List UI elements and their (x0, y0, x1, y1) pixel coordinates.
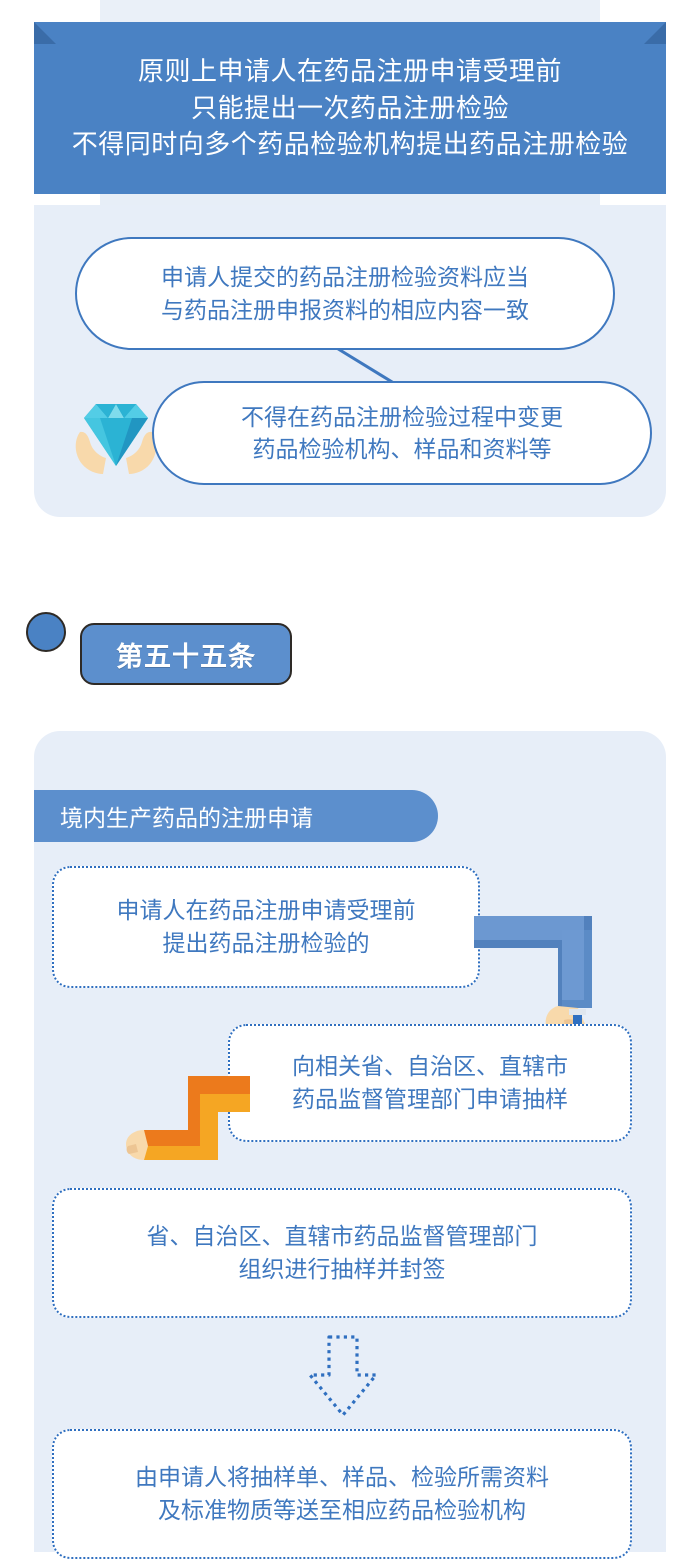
flow-step-4-line-1: 由申请人将抽样单、样品、检验所需资料 (135, 1461, 549, 1494)
rule-bubble-1-line-1: 申请人提交的药品注册检验资料应当 (161, 261, 529, 293)
banner-line-3: 不得同时向多个药品检验机构提出药品注册检验 (72, 126, 629, 163)
section-badge-label: 第五十五条 (116, 635, 256, 674)
rule-bubble-2-line-1: 不得在药品注册检验过程中变更 (241, 401, 563, 433)
banner-sheet-top (100, 0, 600, 24)
flow-step-3-line-2: 组织进行抽样并封签 (239, 1253, 446, 1286)
rule-bubble-1: 申请人提交的药品注册检验资料应当 与药品注册申报资料的相应内容一致 (75, 237, 615, 350)
top-banner: 原则上申请人在药品注册申请受理前 只能提出一次药品注册检验 不得同时向多个药品检… (0, 0, 700, 205)
orange-arm-with-hand-icon (126, 1068, 250, 1190)
badge-bullet-dot (26, 612, 66, 652)
rule-bubble-1-line-2: 与药品注册申报资料的相应内容一致 (161, 294, 529, 326)
section-badge[interactable]: 第五十五条 (80, 623, 292, 685)
banner-line-2: 只能提出一次药品注册检验 (191, 90, 509, 127)
rule-bubble-2: 不得在药品注册检验过程中变更 药品检验机构、样品和资料等 (152, 381, 652, 485)
domestic-application-pill: 境内生产药品的注册申请 (34, 790, 438, 842)
diamond-in-hands-icon (70, 388, 162, 476)
domestic-application-pill-label: 境内生产药品的注册申请 (60, 799, 313, 833)
flow-step-3: 省、自治区、直辖市药品监督管理部门 组织进行抽样并封签 (52, 1188, 632, 1318)
rule-bubble-2-line-2: 药品检验机构、样品和资料等 (253, 433, 552, 465)
flow-step-4-line-2: 及标准物质等送至相应药品检验机构 (158, 1494, 526, 1527)
banner-text-block: 原则上申请人在药品注册申请受理前 只能提出一次药品注册检验 不得同时向多个药品检… (34, 22, 666, 194)
flow-step-1-line-2: 提出药品注册检验的 (163, 927, 370, 960)
banner-line-1: 原则上申请人在药品注册申请受理前 (138, 53, 562, 90)
flow-step-2-line-2: 药品监督管理部门申请抽样 (292, 1083, 568, 1116)
flow-step-1: 申请人在药品注册申请受理前 提出药品注册检验的 (52, 866, 480, 988)
flow-step-2: 向相关省、自治区、直辖市 药品监督管理部门申请抽样 (228, 1024, 632, 1142)
banner-sheet-bottom (100, 192, 600, 206)
flow-step-3-line-1: 省、自治区、直辖市药品监督管理部门 (147, 1220, 538, 1253)
dotted-down-arrow-icon (300, 1333, 386, 1419)
flow-step-2-line-1: 向相关省、自治区、直辖市 (292, 1050, 568, 1083)
flow-step-1-line-1: 申请人在药品注册申请受理前 (117, 894, 416, 927)
flow-step-4: 由申请人将抽样单、样品、检验所需资料 及标准物质等送至相应药品检验机构 (52, 1429, 632, 1559)
blue-arm-with-pen-icon (474, 908, 592, 1040)
